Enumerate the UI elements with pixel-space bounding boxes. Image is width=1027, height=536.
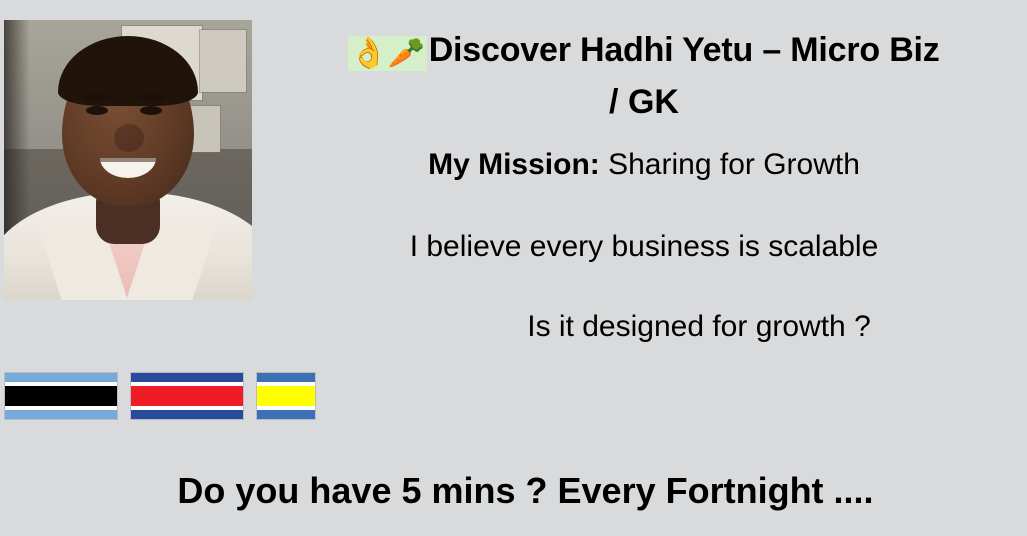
portrait-nose xyxy=(114,124,144,152)
mission-value: Sharing for Growth xyxy=(600,148,860,181)
portrait-photo xyxy=(4,20,252,300)
mission-label: My Mission: xyxy=(428,148,600,181)
ok-hand-carrot-emoji: 👌🥕 xyxy=(348,36,426,71)
flag-blue-yellow-blue xyxy=(256,372,316,420)
promo-banner: 👌🥕Discover Hadhi Yetu – Micro Biz / GK M… xyxy=(0,0,1027,536)
flag-blue-red-blue xyxy=(130,372,244,420)
flag-botswana xyxy=(4,372,118,420)
headline-line-1: 👌🥕Discover Hadhi Yetu – Micro Biz xyxy=(268,30,1020,71)
portrait-eyebrow-right xyxy=(137,94,165,101)
call-to-action-line: Do you have 5 mins ? Every Fortnight ...… xyxy=(0,470,1027,512)
portrait-eye-left xyxy=(86,106,108,115)
mission-line: My Mission: Sharing for Growth xyxy=(268,148,1020,182)
portrait-wall-paper xyxy=(200,30,246,92)
portrait-eyebrow-left xyxy=(83,94,111,101)
text-column: 👌🥕Discover Hadhi Yetu – Micro Biz / GK M… xyxy=(268,30,1020,344)
question-line: Is it designed for growth ? xyxy=(268,310,1020,344)
portrait-eye-right xyxy=(140,106,162,115)
belief-line: I believe every business is scalable xyxy=(268,230,1020,264)
headline-text: Discover Hadhi Yetu – Micro Biz xyxy=(429,31,940,69)
flags-row xyxy=(4,372,316,420)
headline-line-2: / GK xyxy=(268,83,1020,122)
